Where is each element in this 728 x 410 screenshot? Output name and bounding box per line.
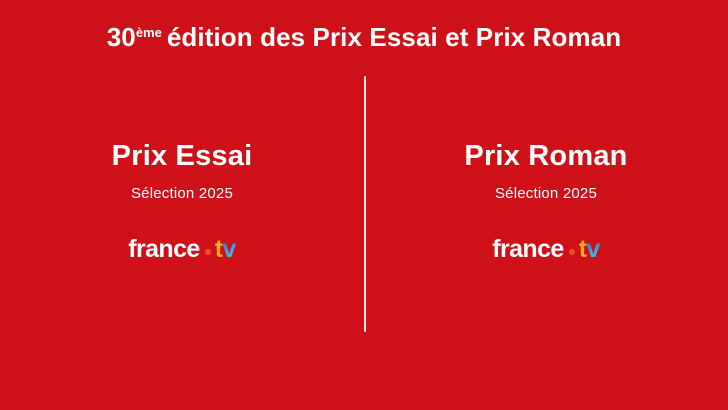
francetv-letter-v: v [222, 237, 235, 262]
francetv-word: france [128, 237, 199, 262]
francetv-logo-icon: france t v [492, 237, 599, 262]
award-subtitle-essai: Sélection 2025 [0, 186, 364, 201]
francetv-dot-icon [205, 249, 211, 255]
award-title-roman: Prix Roman [364, 142, 728, 171]
francetv-dot-icon [569, 249, 575, 255]
page-title: 30èmeédition des Prix Essai et Prix Roma… [107, 24, 622, 50]
panel-prix-essai-content: Prix Essai Sélection 2025 france t v [0, 74, 364, 263]
francetv-letter-t: t [579, 237, 587, 262]
panels-container: Prix Essai Sélection 2025 france t v Pri… [0, 74, 728, 410]
francetv-letter-t: t [215, 237, 223, 262]
title-rest: édition des Prix Essai et Prix Roman [167, 24, 621, 50]
title-bar: 30èmeédition des Prix Essai et Prix Roma… [0, 0, 728, 74]
panel-prix-essai: Prix Essai Sélection 2025 france t v [0, 74, 364, 410]
francetv-logo-essai-wrap: france t v [0, 235, 364, 263]
panel-prix-roman-content: Prix Roman Sélection 2025 france t v [364, 74, 728, 263]
panel-prix-roman: Prix Roman Sélection 2025 france t v [364, 74, 728, 410]
award-subtitle-roman: Sélection 2025 [364, 186, 728, 201]
title-number: 30 [107, 24, 136, 50]
award-title-essai: Prix Essai [0, 142, 364, 171]
title-superscript: ème [136, 26, 162, 39]
slide-root: 30èmeédition des Prix Essai et Prix Roma… [0, 0, 728, 410]
francetv-logo-roman-wrap: france t v [364, 235, 728, 263]
francetv-letter-v: v [586, 237, 599, 262]
francetv-logo-icon: france t v [128, 237, 235, 262]
francetv-word: france [492, 237, 563, 262]
